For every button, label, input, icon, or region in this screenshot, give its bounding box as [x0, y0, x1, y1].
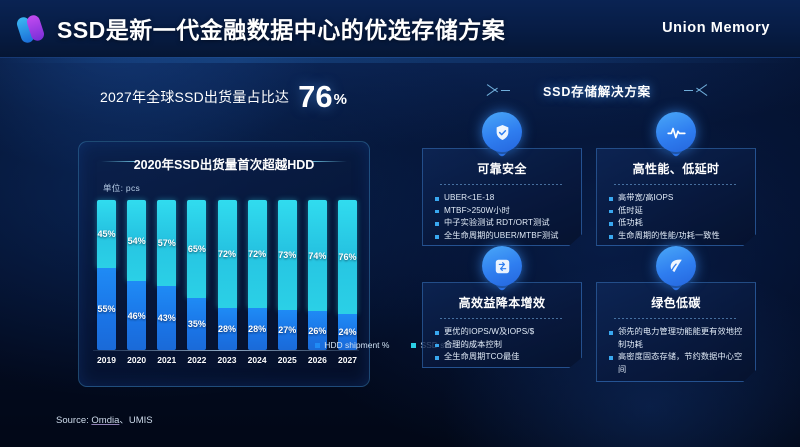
exchange-arrows-icon — [482, 246, 522, 294]
chart-bar-segment-ssd: 73% — [278, 200, 297, 310]
chart-x-tick-labels: 201920202021202220232024202520262027 — [97, 355, 357, 365]
chart-bar-segment-ssd: 72% — [248, 200, 267, 308]
slide-root: SSD是新一代金融数据中心的优选存储方案 Union Memory 2027年全… — [0, 0, 800, 447]
chart-x-tick: 2023 — [218, 355, 237, 365]
feature-card-reliable-safe[interactable]: 可靠安全 UBER<1E-18MTBF>250W小时中子实验测试 RDT/ORT… — [422, 148, 582, 246]
feature-bullet: 低功耗 — [609, 217, 746, 230]
legend-label-hdd: HDD shipment % — [324, 340, 389, 350]
chart-bar-value-ssd: 65% — [188, 244, 206, 254]
chart-bar-value-hdd: 43% — [158, 313, 176, 323]
headline-stat-label: 2027年全球SSD出货量占比达 — [100, 87, 289, 111]
chart-bar-segment-ssd: 54% — [127, 200, 146, 281]
chart-bar-value-ssd: 74% — [308, 251, 326, 261]
chart-bar-segment-ssd: 45% — [97, 200, 116, 268]
headline-stat-value: 76 — [298, 82, 332, 111]
feature-card-title: 绿色低碳 — [597, 294, 755, 311]
feature-bullet: 全生命周期TCO最佳 — [435, 351, 572, 364]
slide-header: SSD是新一代金融数据中心的优选存储方案 Union Memory — [0, 0, 800, 58]
chart-unit-label: 单位: pcs — [103, 182, 140, 194]
chart-x-tick: 2026 — [308, 355, 327, 365]
feature-bullet: 生命周期的性能/功耗一致性 — [609, 230, 746, 243]
feature-bullet: 合理的成本控制 — [435, 339, 572, 352]
pulse-icon — [656, 112, 696, 160]
chart-bar-value-hdd: 35% — [188, 319, 206, 329]
source-link[interactable]: Omdia — [91, 415, 119, 426]
chart-bar-segment-ssd: 76% — [338, 200, 357, 314]
feature-bullet: 中子实验测试 RDT/ORT测试 — [435, 217, 572, 230]
chart-bar-value-ssd: 45% — [97, 229, 115, 239]
stacked-bar-chart: 45%55%54%46%57%43%65%35%72%28%72%28%73%2… — [97, 200, 357, 350]
source-note: Source: Omdia、UMIS — [56, 412, 153, 426]
chart-x-tick: 2022 — [187, 355, 206, 365]
source-rest: 、UMIS — [119, 415, 152, 426]
feature-bullet: 低时延 — [609, 205, 746, 218]
feature-bullet-list: UBER<1E-18MTBF>250W小时中子实验测试 RDT/ORT测试全生命… — [423, 192, 581, 243]
chart-bar-value-hdd: 24% — [338, 327, 356, 337]
chart-bar-value-hdd: 55% — [97, 304, 115, 314]
chart-bar-value-ssd: 54% — [128, 236, 146, 246]
chevron-left-decor-icon — [487, 81, 513, 99]
chart-x-axis — [93, 350, 359, 351]
chart-bar-segment-ssd: 57% — [157, 200, 176, 286]
chart-bar: 65%35% — [187, 200, 206, 350]
chart-x-tick: 2020 — [127, 355, 146, 365]
chart-bar-value-hdd: 46% — [128, 311, 146, 321]
chart-bar-segment-ssd: 74% — [308, 200, 327, 311]
chart-bar-value-ssd: 73% — [278, 250, 296, 260]
chart-x-tick: 2021 — [157, 355, 176, 365]
chart-title: 2020年SSD出货量首次超越HDD — [79, 154, 369, 173]
chart-bar: 54%46% — [127, 200, 146, 350]
card-divider — [614, 184, 737, 185]
card-divider — [440, 184, 563, 185]
section-banner: SSD存储解决方案 — [477, 78, 717, 102]
brand-name: Union Memory — [662, 20, 770, 36]
chart-x-tick: 2019 — [97, 355, 116, 365]
chart-bar-value-ssd: 72% — [248, 249, 266, 259]
leaf-icon — [656, 246, 696, 294]
union-memory-logo-icon — [18, 14, 48, 44]
chart-bar: 73%27% — [278, 200, 297, 350]
feature-card-title: 高性能、低延时 — [597, 160, 755, 177]
chart-bar-value-hdd: 26% — [308, 326, 326, 336]
chart-x-tick: 2027 — [338, 355, 357, 365]
card-divider — [614, 318, 737, 319]
chart-bar-value-ssd: 76% — [338, 252, 356, 262]
chart-bar-value-hdd: 28% — [248, 324, 266, 334]
headline-stat-unit: % — [334, 91, 347, 111]
chart-bar-segment-ssd: 72% — [218, 200, 237, 308]
chart-bar-value-ssd: 57% — [158, 238, 176, 248]
feature-card-green-low-carbon[interactable]: 绿色低碳 领先的电力管理功能能更有效地控制功耗高密度固态存储，节约数据中心空间 — [596, 282, 756, 382]
chart-bar-segment-hdd: 55% — [97, 268, 116, 351]
shield-check-icon — [482, 112, 522, 160]
feature-bullet: 高密度固态存储，节约数据中心空间 — [609, 351, 746, 376]
feature-card-title: 高效益降本增效 — [423, 294, 581, 311]
feature-cards-grid: 可靠安全 UBER<1E-18MTBF>250W小时中子实验测试 RDT/ORT… — [408, 112, 780, 387]
chart-bar-value-ssd: 72% — [218, 249, 236, 259]
chart-bar: 74%26% — [308, 200, 327, 350]
section-banner-label: SSD存储解决方案 — [543, 81, 651, 100]
feature-bullet-list: 高带宽/高IOPS低时延低功耗生命周期的性能/功耗一致性 — [597, 192, 755, 243]
feature-bullet: 领先的电力管理功能能更有效地控制功耗 — [609, 326, 746, 351]
feature-bullet: 更优的IOPS/W及IOPS/$ — [435, 326, 572, 339]
chart-bar: 72%28% — [248, 200, 267, 350]
headline-stat: 2027年全球SSD出货量占比达 76 % — [100, 82, 347, 111]
feature-bullet: 全生命周期的UBER/MTBF测试 — [435, 230, 572, 243]
chart-bar: 72%28% — [218, 200, 237, 350]
chart-x-tick: 2025 — [278, 355, 297, 365]
feature-bullet: UBER<1E-18 — [435, 192, 572, 205]
legend-item-hdd: HDD shipment % — [315, 340, 389, 350]
chart-bar: 45%55% — [97, 200, 116, 350]
feature-card-title: 可靠安全 — [423, 160, 581, 177]
card-divider — [440, 318, 563, 319]
page-title: SSD是新一代金融数据中心的优选存储方案 — [57, 11, 505, 45]
chart-x-tick: 2024 — [248, 355, 267, 365]
feature-bullet-list: 更优的IOPS/W及IOPS/$合理的成本控制全生命周期TCO最佳 — [423, 326, 581, 364]
chart-bar-segment-ssd: 65% — [187, 200, 206, 298]
chart-bar: 76%24% — [338, 200, 357, 350]
chart-bar: 57%43% — [157, 200, 176, 350]
feature-bullet: MTBF>250W小时 — [435, 205, 572, 218]
chart-bar-value-hdd: 27% — [278, 325, 296, 335]
legend-swatch-hdd — [315, 343, 320, 348]
feature-bullet: 高带宽/高IOPS — [609, 192, 746, 205]
chart-bar-value-hdd: 28% — [218, 324, 236, 334]
feature-bullet-list: 领先的电力管理功能能更有效地控制功耗高密度固态存储，节约数据中心空间 — [597, 326, 755, 377]
chart-panel: 2020年SSD出货量首次超越HDD 单位: pcs 45%55%54%46%5… — [78, 141, 370, 387]
feature-card-high-performance[interactable]: 高性能、低延时 高带宽/高IOPS低时延低功耗生命周期的性能/功耗一致性 — [596, 148, 756, 246]
chevron-right-decor-icon — [681, 81, 707, 99]
feature-card-cost-efficiency[interactable]: 高效益降本增效 更优的IOPS/W及IOPS/$合理的成本控制全生命周期TCO最… — [422, 282, 582, 368]
source-prefix: Source: — [56, 415, 89, 426]
